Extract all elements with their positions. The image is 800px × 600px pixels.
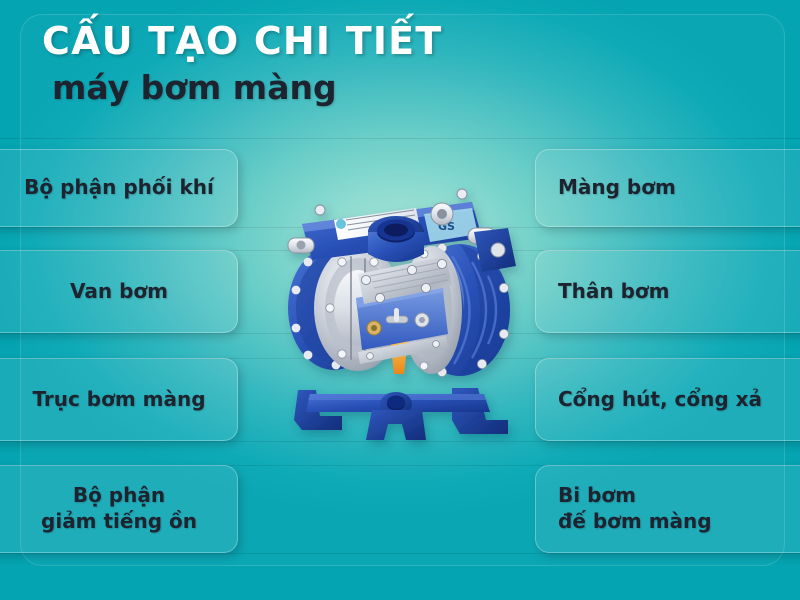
divider-rule-1 [0,138,800,139]
page-title: CẤU TẠO CHI TIẾT máy bơm màng [42,22,542,106]
chip-label-text: Bi bơm đế bơm màng [558,483,712,534]
chip-label-text: Bộ phận phối khí [24,175,214,201]
label-chip-cong-hut-cong-xa[interactable]: Cổng hút, cổng xả [535,358,800,441]
chip-label-text: Van bơm [70,279,168,305]
label-chip-than-bom[interactable]: Thân bơm [535,250,800,333]
title-main: CẤU TẠO CHI TIẾT [42,22,542,62]
label-chip-bo-phan-phoi-khi[interactable]: Bộ phận phối khí [0,149,238,227]
divider-rule-8 [0,553,800,554]
label-chip-bo-phan-giam-tieng-on[interactable]: Bộ phận giảm tiếng ồn [0,465,238,553]
chip-label-text: Trục bơm màng [32,387,205,413]
label-chip-mang-bom[interactable]: Màng bơm [535,149,800,227]
title-subtitle: máy bơm màng [52,70,542,106]
chip-label-text: Bộ phận giảm tiếng ồn [41,483,197,534]
label-chip-bi-bom-de-bom-mang[interactable]: Bi bơm đế bơm màng [535,465,800,553]
chip-label-text: Màng bơm [558,175,676,201]
infographic-canvas: CẤU TẠO CHI TIẾT máy bơm màng [0,0,800,600]
label-chip-truc-bom-mang[interactable]: Trục bơm màng [0,358,238,441]
diaphragm-pump-illustration: GS [246,158,546,458]
label-chip-van-bom[interactable]: Van bơm [0,250,238,333]
chip-label-text: Cổng hút, cổng xả [558,387,762,413]
chip-label-text: Thân bơm [558,279,669,305]
